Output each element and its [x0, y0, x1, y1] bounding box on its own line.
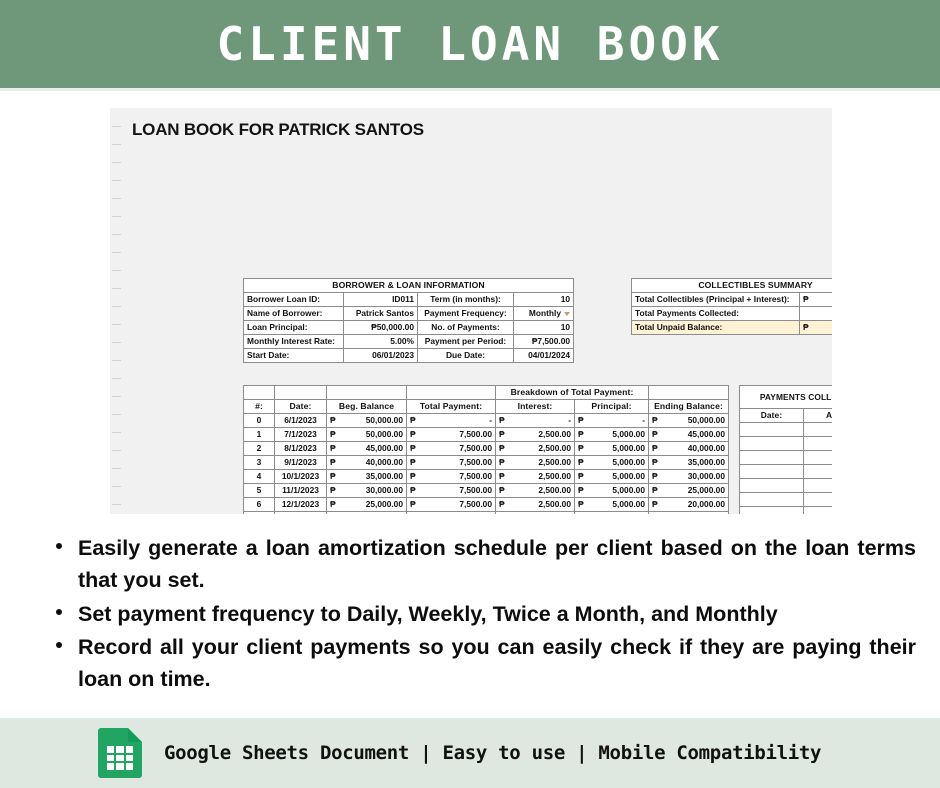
- table-row: 71/1/2024₱20,000.00₱7,500.00₱2,500.00₱5,…: [244, 512, 729, 515]
- currency-symbol: ₱: [803, 321, 809, 334]
- table-row: Total Collectibles (Principal + Interest…: [632, 293, 833, 307]
- payment-date-input[interactable]: [740, 493, 804, 507]
- table-row: 410/1/2023₱35,000.00₱7,500.00₱2,500.00₱5…: [244, 470, 729, 484]
- payment-date-input[interactable]: [740, 437, 804, 451]
- field-value: 10: [514, 321, 574, 335]
- cell-value: 7,500.00: [459, 471, 492, 481]
- table-row: 39/1/2023₱40,000.00₱7,500.00₱2,500.00₱5,…: [244, 456, 729, 470]
- cell-value: 5,000.00: [612, 471, 645, 481]
- banner-divider: [0, 88, 940, 91]
- sheet-title: LOAN BOOK FOR PATRICK SANTOS: [132, 120, 424, 140]
- interest-amount: ₱2,500.00: [496, 442, 575, 456]
- row-number: 1: [244, 428, 275, 442]
- ending-balance: ₱15,000.00: [649, 512, 729, 515]
- cell-value: 30,000.00: [366, 485, 403, 495]
- cell-value: 7,500.00: [459, 443, 492, 453]
- total-payment: ₱7,500.00: [407, 484, 496, 498]
- currency-symbol: ₱: [330, 442, 336, 455]
- beginning-balance: ₱25,000.00: [327, 498, 407, 512]
- column-header: Interest:: [496, 400, 575, 414]
- field-label: Monthly Interest Rate:: [244, 335, 344, 349]
- footer-text: Google Sheets Document | Easy to use | M…: [164, 742, 821, 764]
- beginning-balance: ₱35,000.00: [327, 470, 407, 484]
- bullet-dot-icon: [56, 543, 62, 549]
- collectibles-summary-header: COLLECTIBLES SUMMARY: [632, 279, 833, 293]
- field-label: No. of Payments:: [418, 321, 514, 335]
- column-header: Amount:: [804, 409, 833, 423]
- column-header: Principal:: [575, 400, 649, 414]
- payment-amount-input[interactable]: [804, 479, 833, 493]
- beginning-balance: ₱45,000.00: [327, 442, 407, 456]
- currency-symbol: ₱: [330, 484, 336, 497]
- cell-value: 45,000.00: [688, 429, 725, 439]
- table-row: [740, 451, 833, 465]
- beginning-balance: ₱30,000.00: [327, 484, 407, 498]
- cell-value: -: [642, 415, 645, 425]
- cell-value: 5,000.00: [612, 429, 645, 439]
- row-gutter-ticks: [110, 108, 124, 514]
- field-label: Name of Borrower:: [244, 307, 344, 321]
- field-label: Due Date:: [418, 349, 514, 363]
- field-value: ₱7,500.00: [514, 335, 574, 349]
- currency-symbol: ₱: [499, 484, 505, 497]
- currency-symbol: ₱: [499, 498, 505, 511]
- payment-date-input[interactable]: [740, 451, 804, 465]
- currency-symbol: ₱: [652, 470, 658, 483]
- cell-value: 2,500.00: [538, 471, 571, 481]
- row-number: 4: [244, 470, 275, 484]
- interest-amount: ₱2,500.00: [496, 428, 575, 442]
- beginning-balance: ₱20,000.00: [327, 512, 407, 515]
- cell-value: 50,000.00: [688, 415, 725, 425]
- table-header-row: COLLECTIBLES SUMMARY: [632, 279, 833, 293]
- cell-value: 45,000.00: [366, 443, 403, 453]
- cell-value: 35,000.00: [688, 457, 725, 467]
- borrower-info-header: BORROWER & LOAN INFORMATION: [244, 279, 574, 293]
- table-header-row: BORROWER & LOAN INFORMATION: [244, 279, 574, 293]
- currency-symbol: ₱: [652, 484, 658, 497]
- currency-symbol: ₱: [578, 442, 584, 455]
- payment-amount-input[interactable]: [804, 507, 833, 515]
- payment-date: 1/1/2024: [275, 512, 327, 515]
- currency-symbol: ₱: [499, 442, 505, 455]
- table-row: [740, 465, 833, 479]
- payment-date: 9/1/2023: [275, 456, 327, 470]
- column-header: Date:: [275, 400, 327, 414]
- payment-amount-input[interactable]: [804, 493, 833, 507]
- ending-balance: ₱45,000.00: [649, 428, 729, 442]
- ending-balance: ₱25,000.00: [649, 484, 729, 498]
- currency-symbol: ₱: [330, 470, 336, 483]
- summary-label: Total Unpaid Balance:: [632, 321, 800, 335]
- principal-amount: ₱5,000.00: [575, 428, 649, 442]
- currency-symbol: ₱: [410, 414, 416, 427]
- breakdown-group-header: Breakdown of Total Payment:: [496, 386, 649, 400]
- cell-value: 2,500.00: [538, 499, 571, 509]
- table-header-row: Date:Amount:: [740, 409, 833, 423]
- currency-symbol: ₱: [652, 428, 658, 441]
- cell-value: -: [489, 415, 492, 425]
- field-label: Term (in months):: [418, 293, 514, 307]
- currency-symbol: ₱: [330, 428, 336, 441]
- currency-symbol: ₱: [578, 498, 584, 511]
- payments-collected-table: PAYMENTS COLLECTED: Date:Amount:: [739, 385, 832, 514]
- principal-amount: ₱-: [575, 414, 649, 428]
- currency-symbol: ₱: [499, 470, 505, 483]
- payment-date: 12/1/2023: [275, 498, 327, 512]
- total-payment: ₱7,500.00: [407, 498, 496, 512]
- cell-value: 2,500.00: [538, 429, 571, 439]
- currency-symbol: ₱: [652, 456, 658, 469]
- total-payment: ₱7,500.00: [407, 512, 496, 515]
- bullet-dot-icon: [56, 642, 62, 648]
- summary-amount: [800, 307, 833, 321]
- total-payment: ₱-: [407, 414, 496, 428]
- cell-value: 40,000.00: [688, 443, 725, 453]
- cell-value: 2,500.00: [538, 443, 571, 453]
- total-payment: ₱7,500.00: [407, 456, 496, 470]
- cell-value: 7,500.00: [459, 457, 492, 467]
- cell-value: 5,000.00: [612, 499, 645, 509]
- payment-date-input[interactable]: [740, 465, 804, 479]
- chevron-down-icon[interactable]: [564, 312, 570, 316]
- feature-text: Record all your client payments so you c…: [78, 635, 916, 691]
- cell-value: 2,500.00: [538, 457, 571, 467]
- table-row: 06/1/2023₱50,000.00₱-₱-₱-₱50,000.00: [244, 414, 729, 428]
- currency-symbol: ₱: [578, 428, 584, 441]
- cell-value: 20,000.00: [366, 513, 403, 514]
- table-row: [740, 479, 833, 493]
- currency-symbol: ₱: [330, 456, 336, 469]
- total-payment: ₱7,500.00: [407, 428, 496, 442]
- bullet-dot-icon: [56, 609, 62, 615]
- cell-value: 50,000.00: [366, 415, 403, 425]
- table-row: [740, 423, 833, 437]
- table-row: Total Unpaid Balance:₱75,000.00: [632, 321, 833, 335]
- currency-symbol: ₱: [499, 512, 505, 514]
- currency-symbol: ₱: [330, 512, 336, 514]
- beginning-balance: ₱50,000.00: [327, 428, 407, 442]
- payment-frequency-dropdown[interactable]: Monthly: [514, 307, 574, 321]
- currency-symbol: ₱: [410, 470, 416, 483]
- cell-value: 7,500.00: [459, 485, 492, 495]
- row-number: 0: [244, 414, 275, 428]
- google-sheets-icon: [98, 728, 142, 778]
- payment-amount-input[interactable]: [804, 451, 833, 465]
- currency-symbol: ₱: [499, 414, 505, 427]
- group-header-row: Breakdown of Total Payment:: [244, 386, 729, 400]
- row-number: 6: [244, 498, 275, 512]
- feature-list: Easily generate a loan amortization sche…: [48, 532, 916, 696]
- cell-value: 40,000.00: [366, 457, 403, 467]
- table-header-row: PAYMENTS COLLECTED:: [740, 386, 833, 409]
- field-value-input[interactable]: ₱50,000.00: [344, 321, 418, 335]
- spacer-cell: [649, 386, 729, 400]
- total-payment: ₱7,500.00: [407, 442, 496, 456]
- page-title: CLIENT LOAN BOOK: [216, 21, 723, 67]
- currency-symbol: ₱: [499, 456, 505, 469]
- currency-symbol: ₱: [578, 512, 584, 514]
- total-payment: ₱7,500.00: [407, 470, 496, 484]
- table-row: [740, 507, 833, 515]
- table-row: Loan Principal:₱50,000.00No. of Payments…: [244, 321, 574, 335]
- field-label: Start Date:: [244, 349, 344, 363]
- ending-balance: ₱30,000.00: [649, 470, 729, 484]
- row-number: 5: [244, 484, 275, 498]
- currency-symbol: ₱: [330, 414, 336, 427]
- table-header-row: #:Date:Beg. BalanceTotal Payment:Interes…: [244, 400, 729, 414]
- table-row: Monthly Interest Rate:5.00%Payment per P…: [244, 335, 574, 349]
- currency-symbol: ₱: [652, 414, 658, 427]
- field-value-input[interactable]: 06/01/2023: [344, 349, 418, 363]
- collectibles-summary-table: COLLECTIBLES SUMMARY Total Collectibles …: [631, 278, 832, 335]
- row-number: 2: [244, 442, 275, 456]
- ending-balance: ₱50,000.00: [649, 414, 729, 428]
- header-banner: CLIENT LOAN BOOK: [0, 0, 940, 88]
- cell-value: -: [568, 415, 571, 425]
- table-row: 17/1/2023₱50,000.00₱7,500.00₱2,500.00₱5,…: [244, 428, 729, 442]
- payment-amount-input[interactable]: [804, 437, 833, 451]
- table-row: Total Payments Collected:: [632, 307, 833, 321]
- currency-symbol: ₱: [410, 512, 416, 514]
- slide-canvas: CLIENT LOAN BOOK LOAN BOOK FOR PATRICK S…: [0, 0, 940, 788]
- table-row: 511/1/2023₱30,000.00₱7,500.00₱2,500.00₱5…: [244, 484, 729, 498]
- field-value-input[interactable]: 5.00%: [344, 335, 418, 349]
- currency-symbol: ₱: [410, 484, 416, 497]
- currency-symbol: ₱: [652, 512, 658, 514]
- payment-amount-input[interactable]: [804, 465, 833, 479]
- summary-amount: ₱75,000.00: [800, 321, 833, 335]
- table-row: 612/1/2023₱25,000.00₱7,500.00₱2,500.00₱5…: [244, 498, 729, 512]
- cell-value: 2,500.00: [538, 485, 571, 495]
- beginning-balance: ₱40,000.00: [327, 456, 407, 470]
- cell-value: 30,000.00: [688, 471, 725, 481]
- cell-value: 25,000.00: [366, 499, 403, 509]
- borrower-loan-information-table: BORROWER & LOAN INFORMATION Borrower Loa…: [243, 278, 574, 363]
- currency-symbol: ₱: [330, 498, 336, 511]
- currency-symbol: ₱: [578, 484, 584, 497]
- payment-date: 6/1/2023: [275, 414, 327, 428]
- column-header: Ending Balance:: [649, 400, 729, 414]
- beginning-balance: ₱50,000.00: [327, 414, 407, 428]
- field-label: Loan Principal:: [244, 321, 344, 335]
- summary-label: Total Collectibles (Principal + Interest…: [632, 293, 800, 307]
- spacer-cell: [327, 386, 407, 400]
- cell-value: 7,500.00: [459, 499, 492, 509]
- cell-value: 5,000.00: [612, 457, 645, 467]
- currency-symbol: ₱: [410, 498, 416, 511]
- feature-item: Set payment frequency to Daily, Weekly, …: [78, 598, 916, 630]
- column-header: Date:: [740, 409, 804, 423]
- interest-amount: ₱2,500.00: [496, 484, 575, 498]
- currency-symbol: ₱: [578, 456, 584, 469]
- currency-symbol: ₱: [578, 470, 584, 483]
- interest-amount: ₱2,500.00: [496, 498, 575, 512]
- currency-symbol: ₱: [410, 456, 416, 469]
- payment-amount-input[interactable]: [804, 423, 833, 437]
- payment-date-input[interactable]: [740, 507, 804, 515]
- cell-value: 35,000.00: [366, 471, 403, 481]
- currency-symbol: ₱: [410, 442, 416, 455]
- principal-amount: ₱5,000.00: [575, 442, 649, 456]
- payments-collected-header: PAYMENTS COLLECTED:: [740, 386, 833, 409]
- payment-date: 7/1/2023: [275, 428, 327, 442]
- field-value: 10: [514, 293, 574, 307]
- cell-value: 7,500.00: [459, 513, 492, 514]
- cell-value: 50,000.00: [366, 429, 403, 439]
- payment-date: 10/1/2023: [275, 470, 327, 484]
- field-label: Payment Frequency:: [418, 307, 514, 321]
- payment-date-input[interactable]: [740, 423, 804, 437]
- row-number: 3: [244, 456, 275, 470]
- principal-amount: ₱5,000.00: [575, 498, 649, 512]
- interest-amount: ₱2,500.00: [496, 512, 575, 515]
- field-label: Payment per Period:: [418, 335, 514, 349]
- row-number: 7: [244, 512, 275, 515]
- cell-value: 15,000.00: [688, 513, 725, 514]
- table-row: Start Date:06/01/2023Due Date:04/01/2024: [244, 349, 574, 363]
- interest-amount: ₱2,500.00: [496, 456, 575, 470]
- spacer-cell: [244, 386, 275, 400]
- ending-balance: ₱20,000.00: [649, 498, 729, 512]
- table-row: [740, 493, 833, 507]
- table-row: Name of Borrower:Patrick SantosPayment F…: [244, 307, 574, 321]
- cell-value: 5,000.00: [612, 485, 645, 495]
- spacer-cell: [275, 386, 327, 400]
- payment-date: 11/1/2023: [275, 484, 327, 498]
- ending-balance: ₱40,000.00: [649, 442, 729, 456]
- cell-value: 5,000.00: [612, 443, 645, 453]
- principal-amount: ₱5,000.00: [575, 456, 649, 470]
- cell-value: 20,000.00: [688, 499, 725, 509]
- column-header: #:: [244, 400, 275, 414]
- ending-balance: ₱35,000.00: [649, 456, 729, 470]
- interest-amount: ₱2,500.00: [496, 470, 575, 484]
- cell-value: 25,000.00: [688, 485, 725, 495]
- dropdown-value: Monthly: [529, 308, 561, 318]
- currency-symbol: ₱: [578, 414, 584, 427]
- currency-symbol: ₱: [652, 498, 658, 511]
- field-value-input[interactable]: Patrick Santos: [344, 307, 418, 321]
- cell-value: 2,500.00: [538, 513, 571, 514]
- summary-label: Total Payments Collected:: [632, 307, 800, 321]
- currency-symbol: ₱: [803, 293, 809, 306]
- field-value: 04/01/2024: [514, 349, 574, 363]
- interest-amount: ₱-: [496, 414, 575, 428]
- column-header: Total Payment:: [407, 400, 496, 414]
- table-row: 28/1/2023₱45,000.00₱7,500.00₱2,500.00₱5,…: [244, 442, 729, 456]
- table-row: [740, 437, 833, 451]
- payment-date: 8/1/2023: [275, 442, 327, 456]
- feature-item: Easily generate a loan amortization sche…: [78, 532, 916, 597]
- cell-value: 7,500.00: [459, 429, 492, 439]
- principal-amount: ₱5,000.00: [575, 512, 649, 515]
- column-header: Beg. Balance: [327, 400, 407, 414]
- principal-amount: ₱5,000.00: [575, 484, 649, 498]
- currency-symbol: ₱: [499, 428, 505, 441]
- principal-amount: ₱5,000.00: [575, 470, 649, 484]
- cell-value: 5,000.00: [612, 513, 645, 514]
- feature-text: Set payment frequency to Daily, Weekly, …: [78, 602, 778, 626]
- field-label: Borrower Loan ID:: [244, 293, 344, 307]
- amortization-schedule-table: Breakdown of Total Payment:#:Date:Beg. B…: [243, 385, 729, 514]
- summary-amount: ₱75,000.00: [800, 293, 833, 307]
- spreadsheet-screenshot: LOAN BOOK FOR PATRICK SANTOS BORROWER & …: [110, 108, 832, 514]
- currency-symbol: ₱: [410, 428, 416, 441]
- field-value-input[interactable]: ID011: [344, 293, 418, 307]
- payment-date-input[interactable]: [740, 479, 804, 493]
- table-row: Borrower Loan ID:ID011Term (in months):1…: [244, 293, 574, 307]
- feature-text: Easily generate a loan amortization sche…: [78, 536, 916, 592]
- feature-item: Record all your client payments so you c…: [78, 631, 916, 696]
- spacer-cell: [407, 386, 496, 400]
- currency-symbol: ₱: [652, 442, 658, 455]
- footer-bar: Google Sheets Document | Easy to use | M…: [0, 718, 940, 788]
